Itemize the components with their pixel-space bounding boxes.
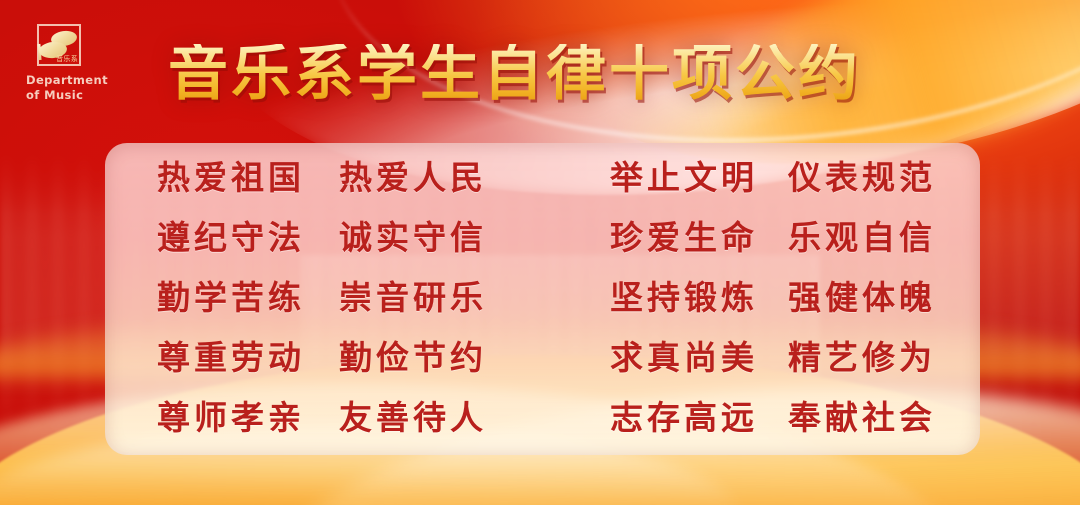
logo-english-name: Department of Music [25, 73, 115, 103]
pledge-phrase: 乐观自信 [788, 211, 936, 267]
pledge-phrase: 坚持锻炼 [610, 271, 758, 327]
pledge-row: 举止文明 仪表规范 [610, 151, 936, 207]
pledge-row: 坚持锻炼 强健体魄 [610, 271, 936, 327]
department-logo: 音乐系 Department of Music [25, 24, 115, 103]
pledge-phrase: 勤俭节约 [339, 331, 487, 387]
pledge-phrase: 尊重劳动 [157, 331, 305, 387]
pledge-column-right: 举止文明 仪表规范 珍爱生命 乐观自信 坚持锻炼 强健体魄 求真尚美 精艺修为 … [610, 151, 936, 447]
pledge-phrase: 举止文明 [610, 151, 758, 207]
pledge-phrase: 热爱祖国 [157, 151, 305, 207]
pledge-phrase: 珍爱生命 [610, 211, 758, 267]
page-title: 音乐系学生自律十项公约 [168, 44, 861, 104]
pledge-row: 求真尚美 精艺修为 [610, 331, 936, 387]
logo-english-line1: Department [26, 73, 115, 88]
pledge-row: 遵纪守法 诚实守信 [157, 211, 487, 267]
pledge-row: 勤学苦练 崇音研乐 [157, 271, 487, 327]
pledge-row: 热爱祖国 热爱人民 [157, 151, 487, 207]
pledge-phrase: 勤学苦练 [157, 271, 305, 327]
poster-canvas: 音乐系 Department of Music 音乐系学生自律十项公约 热爱祖国… [0, 0, 1080, 505]
pledge-phrase: 友善待人 [339, 391, 487, 447]
logo-chinese-name: 音乐系 [56, 56, 78, 63]
pledge-phrase: 崇音研乐 [339, 271, 487, 327]
pledge-column-left: 热爱祖国 热爱人民 遵纪守法 诚实守信 勤学苦练 崇音研乐 尊重劳动 勤俭节约 … [157, 151, 487, 447]
pledge-phrase: 诚实守信 [339, 211, 487, 267]
pledge-phrase: 奉献社会 [788, 391, 936, 447]
pledge-phrase: 求真尚美 [610, 331, 758, 387]
pledge-phrase: 强健体魄 [788, 271, 936, 327]
music-note-mark-icon: 音乐系 [37, 24, 81, 66]
pledge-phrase: 志存高远 [610, 391, 758, 447]
pledge-phrase: 尊师孝亲 [157, 391, 305, 447]
pledge-row: 尊重劳动 勤俭节约 [157, 331, 487, 387]
pledge-row: 志存高远 奉献社会 [610, 391, 936, 447]
pledge-row: 珍爱生命 乐观自信 [610, 211, 936, 267]
pledge-phrase: 精艺修为 [788, 331, 936, 387]
pledge-phrase: 遵纪守法 [157, 211, 305, 267]
pledge-phrase: 仪表规范 [788, 151, 936, 207]
pledge-row: 尊师孝亲 友善待人 [157, 391, 487, 447]
pledge-panel: 热爱祖国 热爱人民 遵纪守法 诚实守信 勤学苦练 崇音研乐 尊重劳动 勤俭节约 … [105, 143, 980, 455]
logo-english-line2: of Music [26, 88, 115, 103]
pledge-grid: 热爱祖国 热爱人民 遵纪守法 诚实守信 勤学苦练 崇音研乐 尊重劳动 勤俭节约 … [105, 151, 980, 447]
pledge-phrase: 热爱人民 [339, 151, 487, 207]
